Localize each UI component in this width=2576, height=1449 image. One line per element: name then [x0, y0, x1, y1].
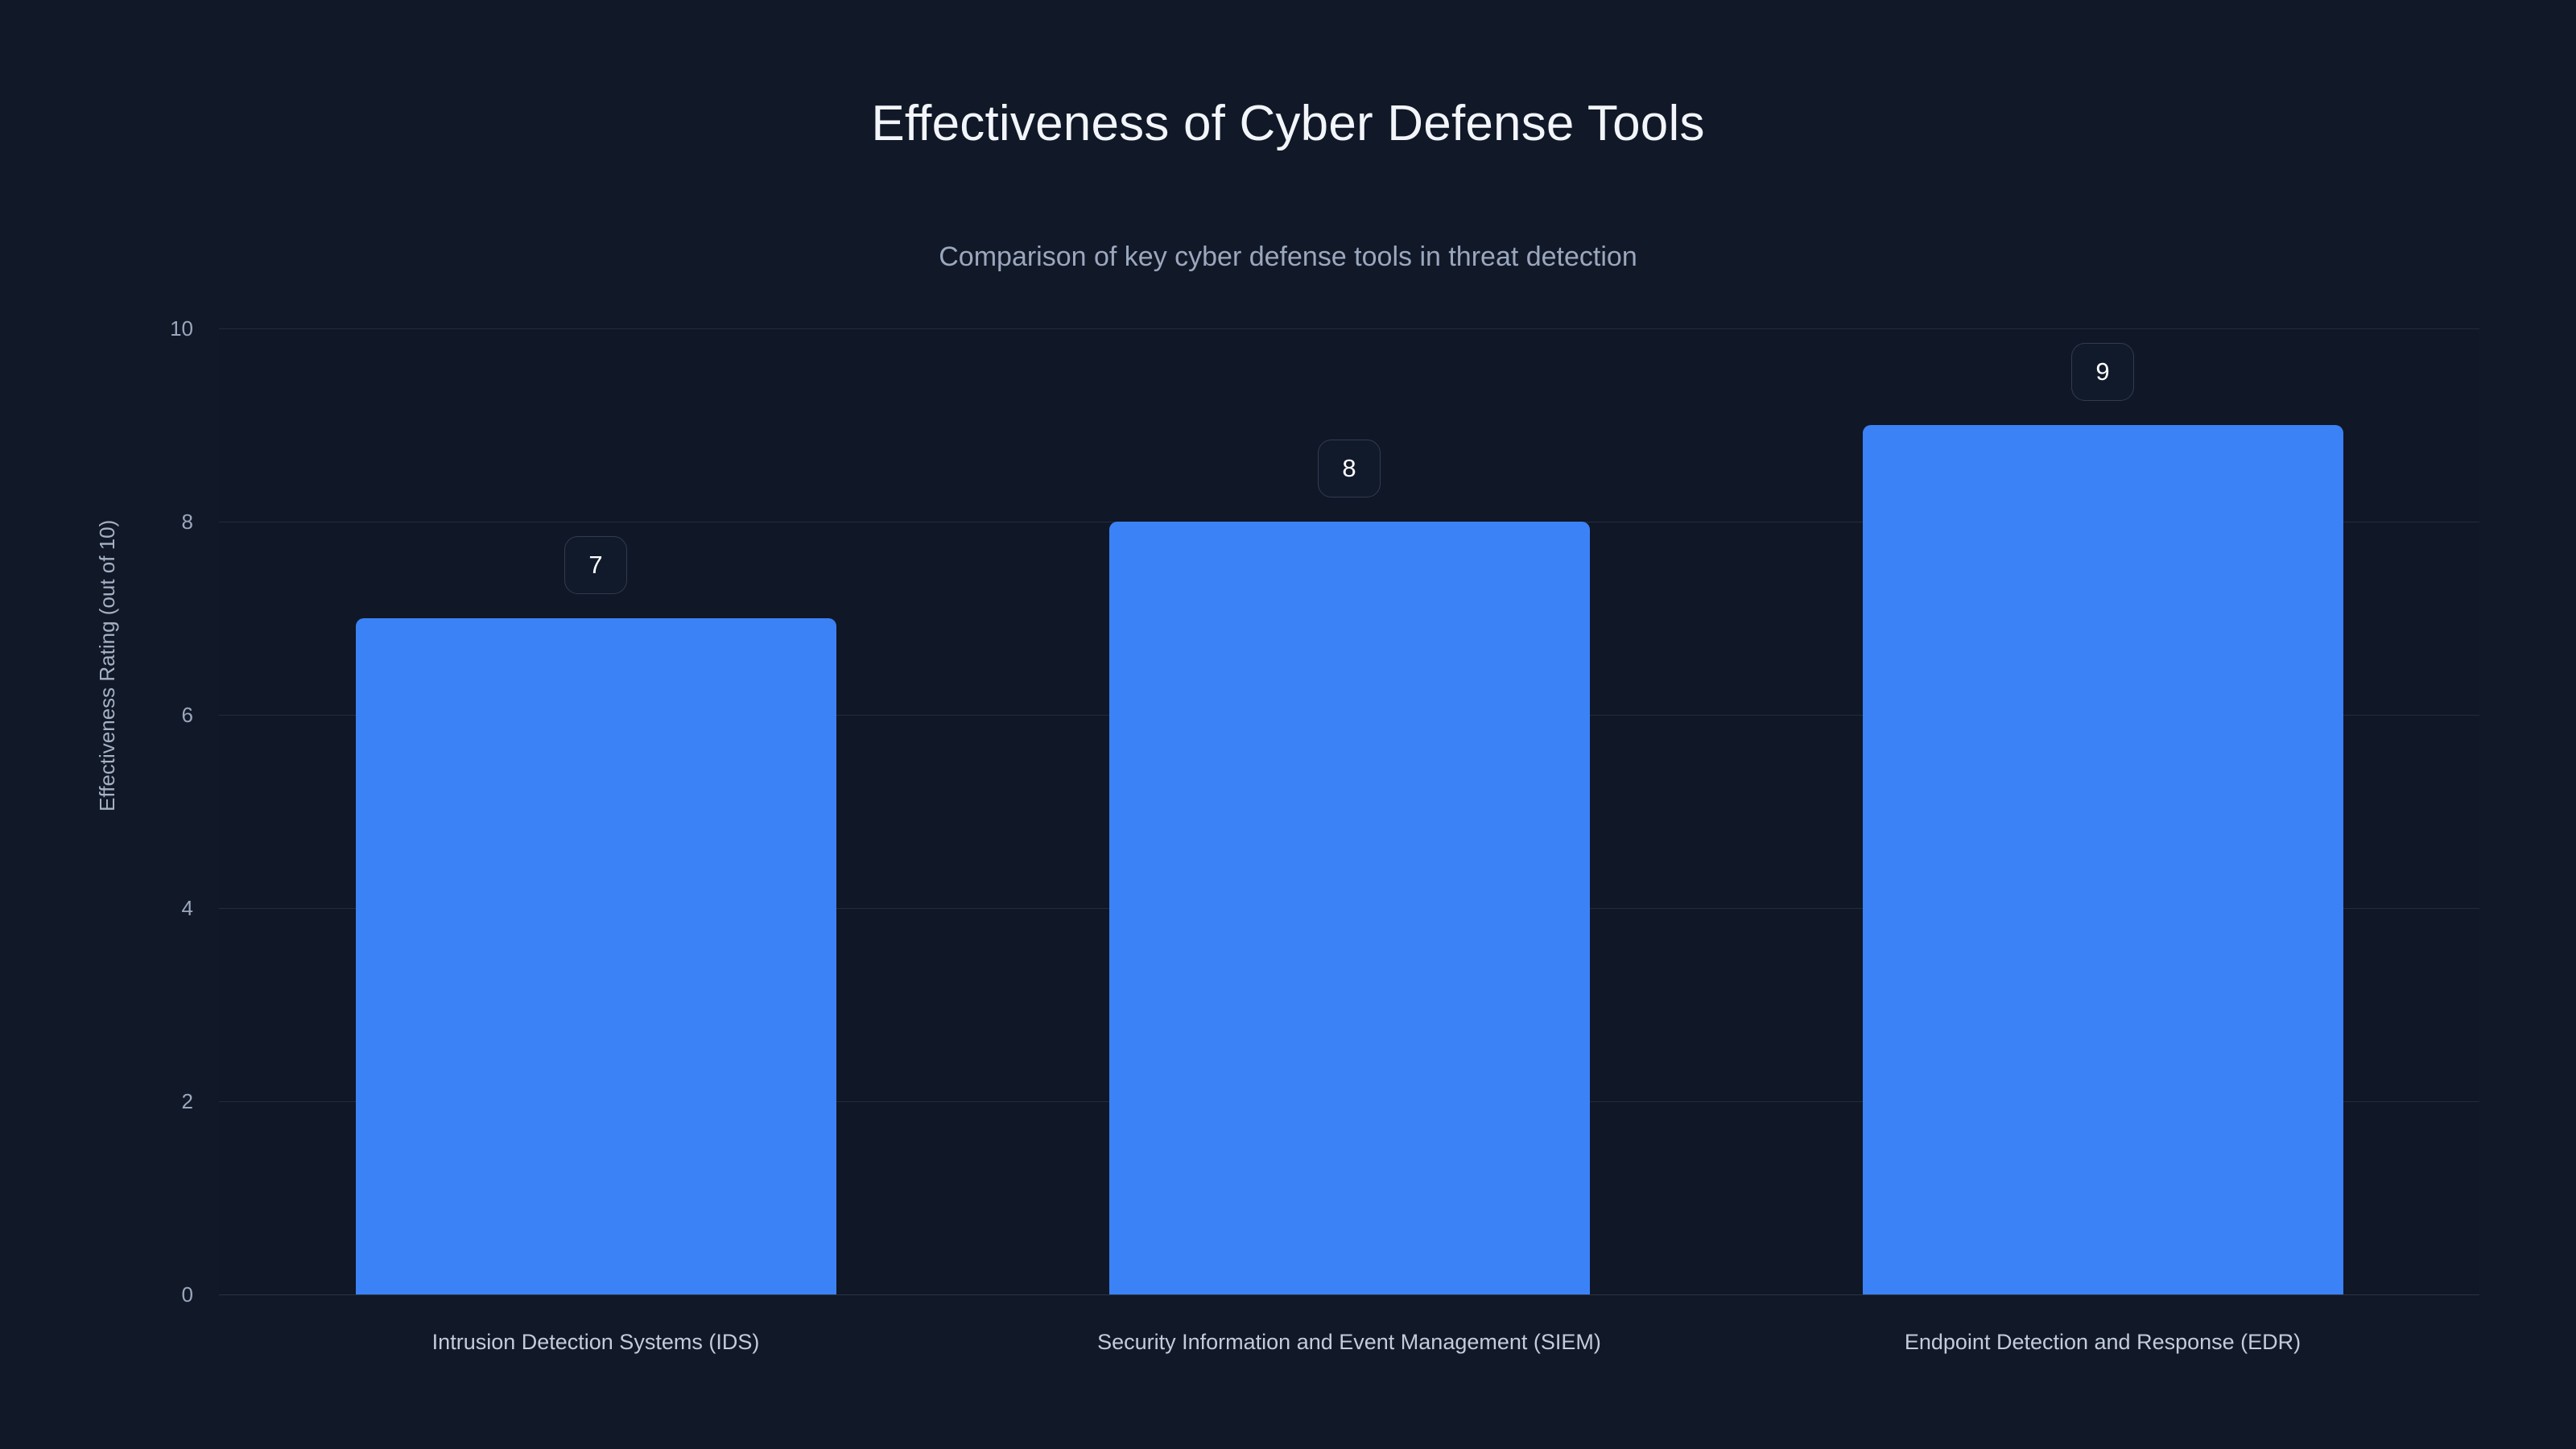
y-axis-tick: 10 — [129, 318, 193, 339]
bar[interactable] — [356, 618, 836, 1294]
y-axis-tick: 4 — [129, 898, 193, 919]
bar[interactable] — [1109, 522, 1590, 1294]
y-axis-tick: 6 — [129, 704, 193, 725]
y-axis-label: Effectiveness Rating (out of 10) — [95, 520, 120, 811]
chart-page: Effectiveness of Cyber Defense Tools Com… — [0, 0, 2576, 1449]
chart-title: Effectiveness of Cyber Defense Tools — [0, 95, 2576, 152]
x-axis-category-label: Intrusion Detection Systems (IDS) — [432, 1330, 760, 1355]
bar[interactable] — [1863, 425, 2343, 1294]
gridline — [219, 328, 2479, 329]
y-axis-tick: 8 — [129, 511, 193, 532]
gridline — [219, 1294, 2479, 1295]
bar-value-badge: 8 — [1318, 440, 1381, 497]
bar-value-badge: 7 — [564, 536, 627, 594]
y-axis-tick: 0 — [129, 1284, 193, 1305]
y-axis-tick: 2 — [129, 1091, 193, 1112]
x-axis-category-label: Endpoint Detection and Response (EDR) — [1905, 1330, 2301, 1355]
chart-subtitle: Comparison of key cyber defense tools in… — [0, 242, 2576, 273]
x-axis-category-label: Security Information and Event Managemen… — [1097, 1330, 1601, 1355]
bar-value-badge: 9 — [2071, 343, 2134, 401]
